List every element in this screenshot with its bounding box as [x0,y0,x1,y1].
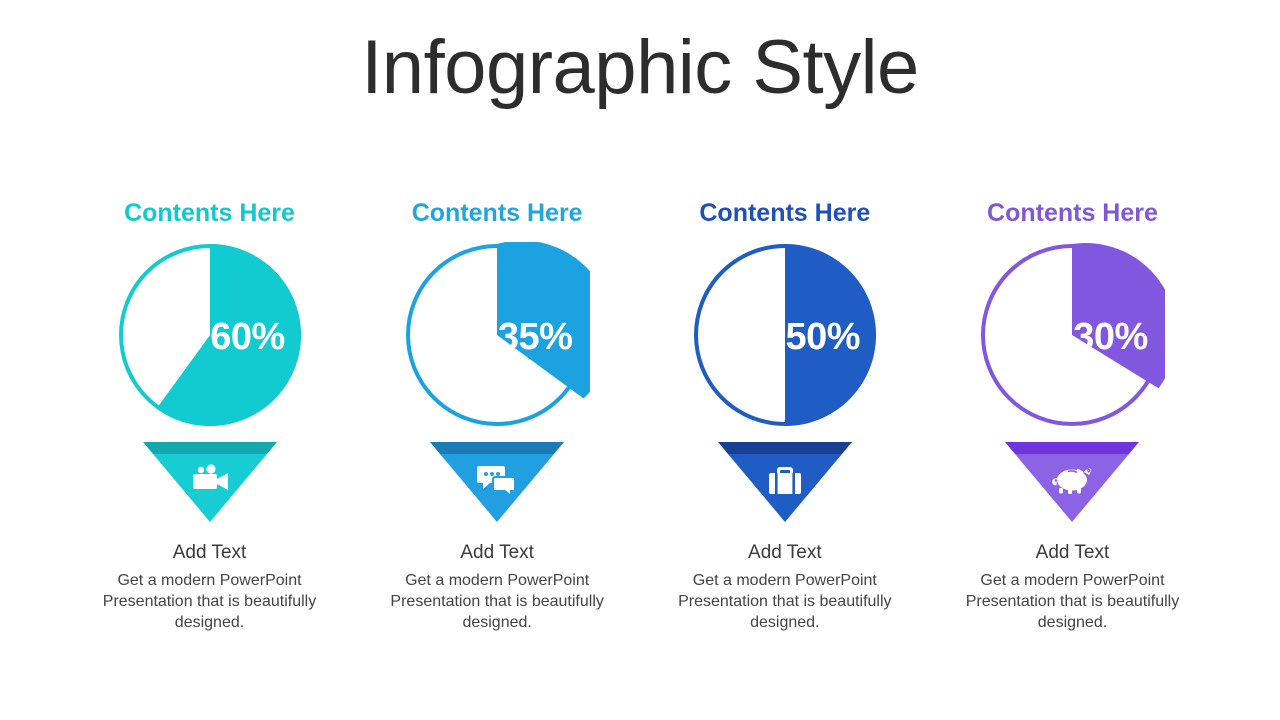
pie-chart-1-svg [117,242,303,428]
column-subtitle-4: Add Text [1036,542,1110,565]
triangle-4-top-band [1005,442,1139,454]
triangle-badge-4-svg [1005,442,1139,522]
pie-chart-3-svg [692,242,878,428]
triangle-badge-1-svg [143,442,277,522]
triangle-3-body [728,454,842,522]
column-body-2: Get a modern PowerPoint Presentation tha… [362,570,632,633]
triangle-1-body [153,454,267,522]
column-body-1: Get a modern PowerPoint Presentation tha… [75,570,345,633]
pie-chart-4[interactable]: 30% [979,242,1165,428]
triangle-badge-4[interactable] [1005,442,1139,522]
pie-chart-4-svg [979,242,1165,428]
triangle-badge-3-svg [718,442,852,522]
slide-canvas: Infographic Style Contents Here 60% [0,0,1280,720]
triangle-badge-3[interactable] [718,442,852,522]
column-body-4: Get a modern PowerPoint Presentation tha… [937,570,1207,633]
column-heading-2: Contents Here [412,198,583,228]
infographic-columns: Contents Here 60% [66,198,1216,633]
page-title: Infographic Style [0,26,1280,110]
pie-chart-1[interactable]: 60% [117,242,303,428]
triangle-badge-1[interactable] [143,442,277,522]
triangle-3-top-band [718,442,852,454]
pie-chart-2-svg [404,242,590,428]
column-heading-4: Contents Here [987,198,1158,228]
triangle-4-body [1015,454,1129,522]
infographic-column-3[interactable]: Contents Here 50% [641,198,928,633]
triangle-2-top-band [430,442,564,454]
infographic-column-1[interactable]: Contents Here 60% [66,198,353,633]
triangle-badge-2-svg [430,442,564,522]
column-subtitle-2: Add Text [460,542,534,565]
triangle-1-top-band [143,442,277,454]
triangle-2-body [440,454,554,522]
column-subtitle-3: Add Text [748,542,822,565]
infographic-column-2[interactable]: Contents Here 35% [354,198,641,633]
column-heading-3: Contents Here [699,198,870,228]
pie-chart-2[interactable]: 35% [404,242,590,428]
column-heading-1: Contents Here [124,198,295,228]
pie-3-slice [785,244,876,426]
triangle-badge-2[interactable] [430,442,564,522]
column-subtitle-1: Add Text [173,542,247,565]
infographic-column-4[interactable]: Contents Here 30% [929,198,1216,633]
column-body-3: Get a modern PowerPoint Presentation tha… [650,570,920,633]
pie-chart-3[interactable]: 50% [692,242,878,428]
